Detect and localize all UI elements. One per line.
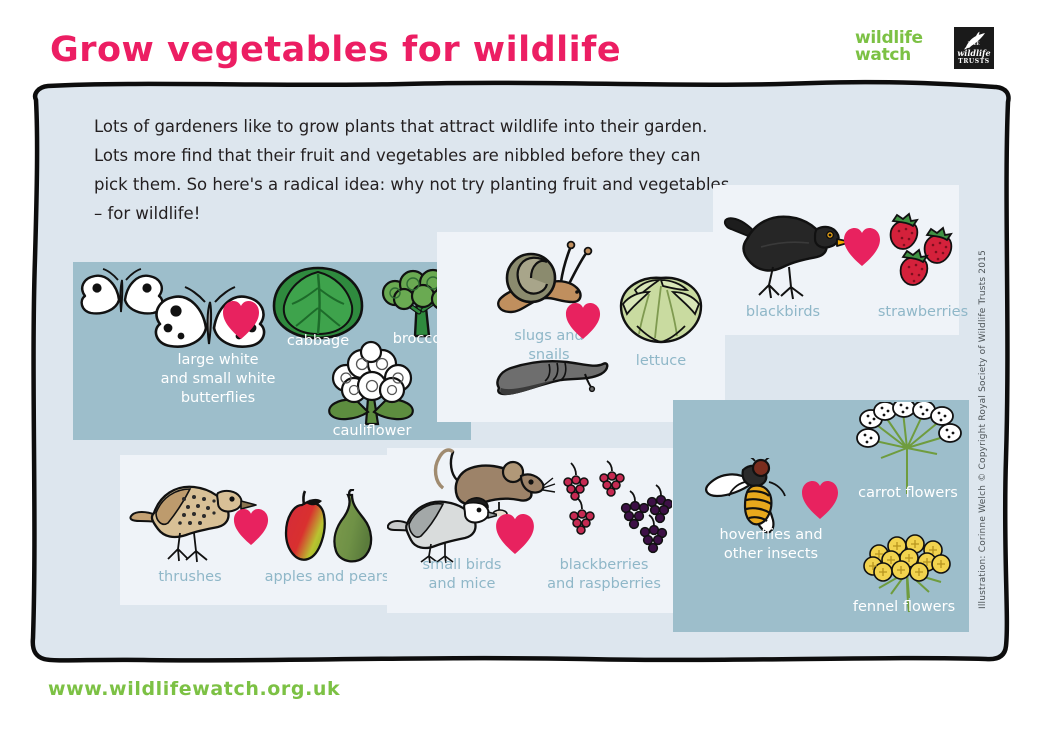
intro-paragraph: Lots of gardeners like to grow plants th… bbox=[94, 112, 714, 228]
strawberries-icon bbox=[885, 203, 963, 291]
poster-page: Grow vegetables for wildlife wildlife wa… bbox=[0, 0, 1044, 738]
caption-smallbirds-line2: and mice bbox=[387, 575, 537, 594]
caption-thrushes: thrushes bbox=[128, 568, 252, 587]
caption-small-birds-mice: small birds and mice bbox=[387, 556, 537, 594]
caption-cauliflower: cauliflower bbox=[316, 422, 428, 441]
small-bird-icon bbox=[387, 484, 497, 564]
hoverfly-icon bbox=[703, 458, 813, 536]
caption-hoverflies: hoverflies and other insects bbox=[681, 526, 861, 564]
caption-strawberries: strawberries bbox=[853, 303, 993, 322]
logo-trusts: TRUSTS bbox=[954, 58, 994, 67]
page-title: Grow vegetables for wildlife bbox=[50, 30, 621, 70]
heart-icon bbox=[843, 227, 881, 267]
heart-icon bbox=[495, 513, 535, 555]
logo-wildlife: wildlife bbox=[957, 48, 990, 58]
footer-website-url[interactable]: www.wildlifewatch.org.uk bbox=[48, 678, 340, 700]
caption-butterflies-line2: and small white bbox=[128, 370, 308, 389]
caption-slugs-line1: slugs and bbox=[469, 327, 629, 346]
wildlife-watch-logo: wildlife watch bbox=[855, 30, 935, 66]
intro-line-4: – for wildlife! bbox=[94, 199, 714, 228]
caption-slugs-line2: snails bbox=[469, 346, 629, 365]
panel-small-birds-mice: small birds and mice blackberries and ra… bbox=[387, 448, 676, 613]
caption-fennel-flowers: fennel flowers bbox=[839, 598, 969, 617]
caption-apples-pears: apples and pears bbox=[252, 568, 402, 587]
panel-blackbirds: blackbirds strawberries bbox=[713, 185, 959, 335]
panel-slugs-snails: slugs and snails lettuce bbox=[437, 232, 725, 422]
caption-berries-line1: blackberries bbox=[529, 556, 679, 575]
heart-icon bbox=[222, 300, 260, 340]
caption-butterflies: large white and small white butterflies bbox=[128, 351, 308, 408]
caption-berries-line2: and raspberries bbox=[529, 575, 679, 594]
caption-blackberries-raspberries: blackberries and raspberries bbox=[529, 556, 679, 594]
cauliflower-icon bbox=[316, 340, 426, 430]
caption-slugs-snails: slugs and snails bbox=[469, 327, 629, 365]
heart-icon bbox=[565, 302, 601, 340]
wildlife-trusts-logo: THE wildlife TRUSTS bbox=[952, 25, 996, 71]
blackbird-icon bbox=[721, 199, 851, 303]
heart-icon bbox=[801, 480, 839, 520]
panel-hoverflies: hoverflies and other insects bbox=[673, 400, 969, 632]
apple-and-pear-icon bbox=[278, 489, 378, 567]
copyright-notice: Illustration: Corinne Welch © Copyright … bbox=[978, 250, 988, 670]
heart-icon bbox=[233, 508, 269, 546]
caption-blackbirds: blackbirds bbox=[723, 303, 843, 322]
caption-hoverflies-line2: other insects bbox=[681, 545, 861, 564]
wildlife-trusts-logo-text: THE wildlife TRUSTS bbox=[954, 41, 994, 67]
intro-line-1: Lots of gardeners like to grow plants th… bbox=[94, 112, 714, 141]
intro-line-2: Lots more find that their fruit and vege… bbox=[94, 141, 714, 170]
caption-lettuce: lettuce bbox=[613, 352, 709, 371]
panel-thrushes: thrushes apples and pears bbox=[120, 455, 405, 605]
wildlife-watch-logo-line2: watch bbox=[855, 47, 935, 64]
caption-butterflies-line3: butterflies bbox=[128, 389, 308, 408]
caption-hoverflies-line1: hoverflies and bbox=[681, 526, 861, 545]
lettuce-icon bbox=[615, 274, 707, 348]
caption-smallbirds-line1: small birds bbox=[387, 556, 537, 575]
panel-butterflies: cabbage broccoli bbox=[73, 262, 471, 440]
caption-butterflies-line1: large white bbox=[128, 351, 308, 370]
caption-carrot-flowers: carrot flowers bbox=[843, 484, 973, 503]
intro-line-3: pick them. So here's a radical idea: why… bbox=[94, 170, 714, 199]
blackberries-raspberries-icon bbox=[552, 460, 672, 556]
cabbage-icon bbox=[270, 264, 366, 342]
